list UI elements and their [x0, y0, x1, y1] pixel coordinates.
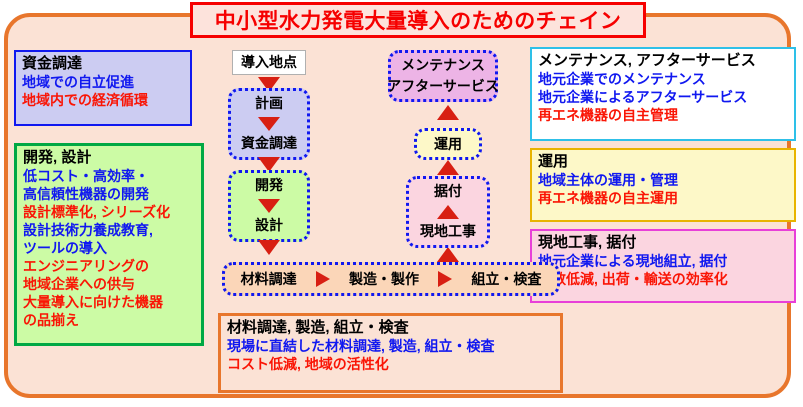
- flow-node-development-label: 開発: [255, 177, 283, 194]
- card-development: 開発, 設計 低コスト・高効率・ 高信頼性機器の開発 設計標準化, シリーズ化 …: [14, 143, 204, 346]
- card-construction-heading: 現地工事, 据付: [538, 233, 789, 252]
- card-development-heading: 開発, 設計: [23, 148, 196, 167]
- card-construction-line-2: 工数低減, 出荷・輸送の効率化: [538, 270, 789, 288]
- card-development-line-8: 大量導入に向けた機器: [23, 293, 196, 311]
- flow-node-maintenance-label: メンテナンス: [401, 57, 485, 74]
- flow-node-plan-label: 計画: [255, 95, 283, 112]
- arrow-right-manufacture-to-assembly: [438, 271, 452, 287]
- flow-node-assembly-label: 組立・検査: [471, 271, 541, 288]
- arrow-down-development-to-design: [258, 199, 280, 213]
- card-maintenance-line-3: 再エネ機器の自主管理: [538, 106, 789, 124]
- card-funding-heading: 資金調達: [22, 54, 185, 73]
- arrow-up-field-work-to-installation: [437, 205, 459, 219]
- card-development-line-2: 高信頼性機器の開発: [23, 185, 196, 203]
- card-construction: 現地工事, 据付 地元企業による現地組立, 据付 工数低減, 出荷・輸送の効率化: [530, 229, 796, 303]
- card-funding: 資金調達 地域での自立促進 地域内での経済循環: [14, 50, 192, 126]
- diagram-canvas: 中小型水力発電大量導入のためのチェイン 資金調達 地域での自立促進 地域内での経…: [0, 0, 803, 407]
- arrow-down-design-to-chain: [258, 240, 280, 255]
- flow-node-procurement-label: 材料調達: [241, 271, 297, 288]
- card-development-line-4: 設計技術力養成教育,: [23, 221, 196, 239]
- card-supply-chain: 材料調達, 製造, 組立・検査 現場に直結した材料調達, 製造, 組立・検査 コ…: [218, 313, 563, 393]
- card-funding-line-1: 地域での自立促進: [22, 73, 185, 91]
- flow-node-installation-label: 据付: [434, 183, 462, 200]
- flow-node-development-design: 開発 設計: [228, 170, 310, 242]
- card-development-line-7: 地域企業への供与: [23, 275, 196, 293]
- arrow-up-operation-to-maintenance: [437, 105, 459, 120]
- diagram-title-box: 中小型水力発電大量導入のためのチェイン: [190, 2, 646, 38]
- card-maintenance-line-2: 地元企業によるアフターサービス: [538, 88, 789, 106]
- flow-node-operation: 運用: [414, 128, 482, 160]
- flow-node-operation-label: 運用: [434, 136, 462, 153]
- card-funding-line-2: 地域内での経済循環: [22, 91, 185, 109]
- flow-node-plan-funding: 計画 資金調達: [228, 88, 310, 160]
- card-development-line-5: ツールの導入: [23, 239, 196, 257]
- flow-node-site-label: 導入地点: [241, 54, 297, 71]
- card-operation-line-1: 地域主体の運用・管理: [538, 171, 789, 189]
- card-operation: 運用 地域主体の運用・管理 再エネ機器の自主運用: [530, 148, 796, 222]
- card-maintenance-line-1: 地元企業でのメンテナンス: [538, 70, 789, 88]
- card-supply-chain-line-2: コスト低減, 地域の活性化: [227, 355, 555, 373]
- flow-node-field-work-label: 現地工事: [420, 223, 476, 240]
- card-development-line-1: 低コスト・高効率・: [23, 167, 196, 185]
- flow-node-design-label: 設計: [255, 217, 283, 234]
- card-maintenance: メンテナンス, アフターサービス 地元企業でのメンテナンス 地元企業によるアフタ…: [530, 47, 796, 141]
- arrow-down-plan-to-funding: [258, 117, 280, 131]
- flow-node-funding-label: 資金調達: [241, 135, 297, 152]
- arrow-up-installation-to-operation: [437, 160, 459, 175]
- card-maintenance-heading: メンテナンス, アフターサービス: [538, 51, 789, 70]
- page-title: 中小型水力発電大量導入のためのチェイン: [215, 5, 622, 35]
- card-development-line-6: エンジニアリングの: [23, 257, 196, 275]
- card-supply-chain-line-1: 現場に直結した材料調達, 製造, 組立・検査: [227, 337, 555, 355]
- flow-node-installation-field-work: 据付 現地工事: [406, 176, 490, 248]
- flow-node-maintenance: メンテナンス アフターサービス: [388, 50, 498, 102]
- card-operation-line-2: 再エネ機器の自主運用: [538, 189, 789, 207]
- card-construction-line-1: 地元企業による現地組立, 据付: [538, 252, 789, 270]
- flow-node-site: 導入地点: [232, 50, 306, 75]
- arrow-right-procurement-to-manufacture: [316, 271, 330, 287]
- card-development-line-3: 設計標準化, シリーズ化: [23, 203, 196, 221]
- card-supply-chain-heading: 材料調達, 製造, 組立・検査: [227, 318, 555, 337]
- flow-node-supply-chain: 材料調達 製造・製作 組立・検査: [222, 262, 560, 296]
- flow-node-after-service-label: アフターサービス: [387, 78, 499, 95]
- arrow-up-assembly-to-field-work: [437, 247, 459, 262]
- card-development-line-9: の品揃え: [23, 311, 196, 329]
- flow-node-manufacture-label: 製造・製作: [349, 271, 419, 288]
- card-operation-heading: 運用: [538, 152, 789, 171]
